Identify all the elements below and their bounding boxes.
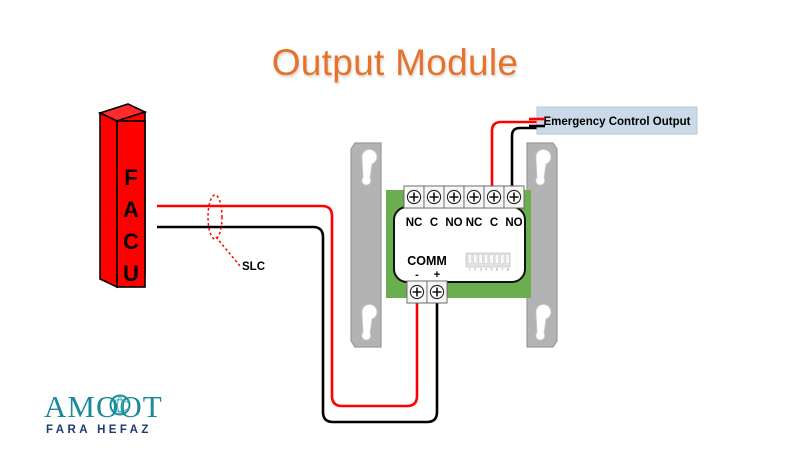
dip-switch-lever-2[interactable]: [474, 255, 477, 264]
terminal-nc-1-label: NC: [406, 217, 423, 229]
facu-letter-u: U: [123, 261, 139, 286]
amoot-logo: AMOOT FARA HEFAZ: [44, 389, 163, 436]
terminal-c-1-label: C: [430, 217, 438, 229]
comm-terminal-minus[interactable]: [407, 281, 427, 303]
mounting-bracket-right: [527, 143, 557, 347]
facu-front-face: [100, 113, 117, 287]
comm-plus-sign: +: [434, 269, 440, 281]
dip-switch-number-2: 2: [474, 268, 476, 272]
dip-switch-number-5: 5: [491, 268, 493, 272]
facu-letter-f: F: [124, 165, 137, 190]
dip-switch-lever-7[interactable]: [501, 255, 504, 264]
output-module-wiring-diagram: F A C U SLC Emergency Control Output: [0, 0, 790, 474]
terminal-nc-2-label: NC: [466, 217, 483, 229]
diagram-canvas: Output Module F A C U: [0, 0, 790, 474]
facu-panel: F A C U: [100, 104, 145, 287]
facu-letter-c: C: [123, 229, 139, 254]
dip-switch-number-7: 7: [501, 268, 503, 272]
terminal-no-2[interactable]: NO: [504, 186, 524, 229]
dip-switch-number-1: 1: [469, 268, 471, 272]
comm-minus-sign: -: [415, 269, 419, 281]
slc-label: SLC: [242, 261, 265, 273]
comm-terminal-plus[interactable]: [427, 281, 447, 303]
dip-switch-number-3: 3: [480, 268, 482, 272]
dip-switch-lever-6[interactable]: [495, 255, 498, 264]
dip-switch-lever-4[interactable]: [484, 255, 487, 264]
dip-switch-lever-8[interactable]: [506, 255, 509, 264]
emergency-control-output-box: Emergency Control Output: [537, 107, 697, 134]
terminal-nc-2[interactable]: NC: [464, 186, 484, 229]
terminal-no-2-label: NO: [505, 217, 522, 229]
dip-switch-number-6: 6: [496, 268, 498, 272]
facu-letter-a: A: [123, 197, 139, 222]
terminal-no-1-label: NO: [445, 217, 462, 229]
dip-switch-lever-3[interactable]: [479, 255, 482, 264]
terminal-no-1[interactable]: NO: [444, 186, 464, 229]
dip-switch-lever-1[interactable]: [468, 255, 471, 264]
comm-label: COMM: [407, 254, 447, 268]
slc-leader-line: [216, 237, 240, 266]
comm-terminal-block[interactable]: [407, 281, 447, 303]
logo-brand-text: AMOOT: [44, 389, 163, 424]
dip-switch-number-4: 4: [485, 268, 487, 272]
mounting-bracket-left: [351, 143, 381, 347]
dip-switch-number-8: 8: [507, 268, 509, 272]
dip-switch-lever-5[interactable]: [490, 255, 493, 264]
logo-tagline: FARA HEFAZ: [46, 424, 152, 436]
emergency-box-label: Emergency Control Output: [544, 116, 691, 128]
terminal-nc-1[interactable]: NC: [404, 186, 424, 229]
slc-highlight-ellipse: [208, 195, 222, 239]
terminal-c-2-label: C: [490, 217, 498, 229]
